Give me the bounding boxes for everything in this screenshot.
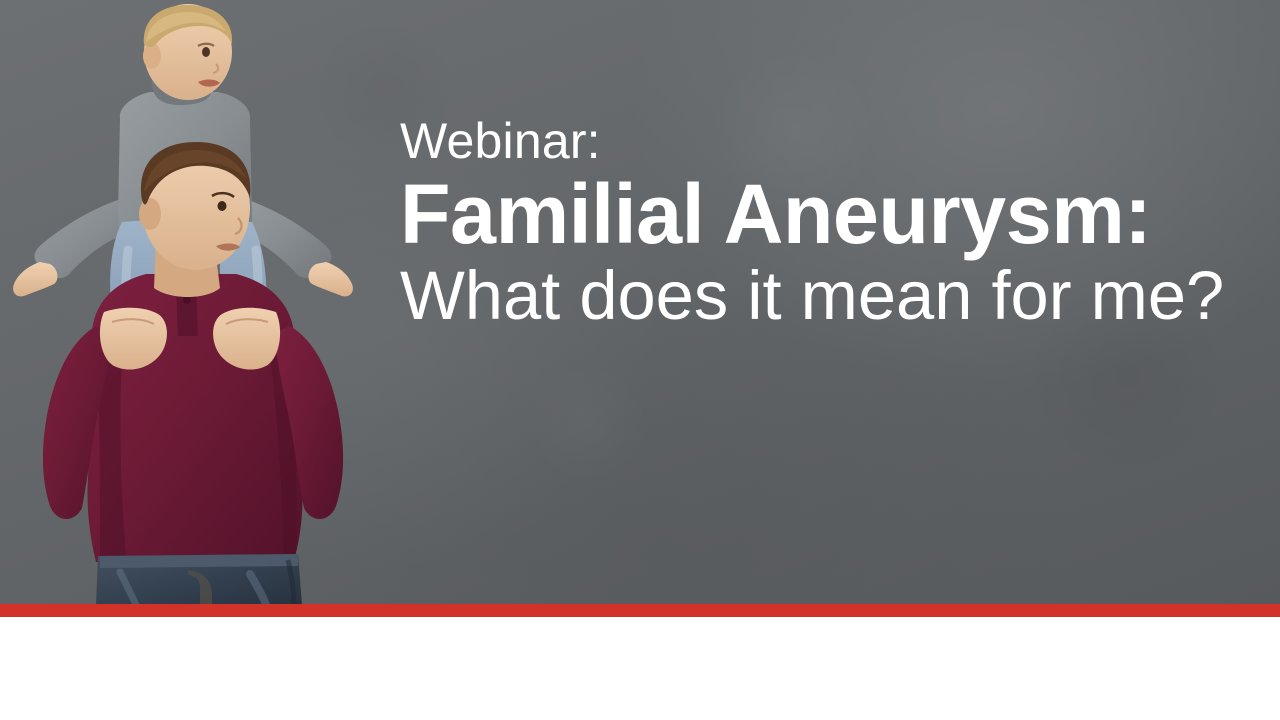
boy-eye (202, 47, 210, 57)
eyebrow-text: Webinar: (400, 112, 1230, 170)
man-shirt-button (183, 296, 191, 304)
title-block: Webinar: Familial Aneurysm: What does it… (400, 112, 1230, 336)
accent-divider (0, 604, 1280, 617)
boy-left-hand (13, 262, 57, 296)
man-jeans-waistband (100, 554, 298, 568)
webinar-title-slide: Webinar: Familial Aneurysm: What does it… (0, 0, 1280, 720)
hero-background: Webinar: Familial Aneurysm: What does it… (0, 0, 1280, 605)
man-eye (218, 201, 227, 211)
sponsor-logo-bar: BRAIN ANEURYSM FOUNDATION (0, 617, 1280, 720)
boy-right-hand (309, 262, 353, 296)
man-ear (139, 198, 161, 230)
hero-photo (0, 0, 380, 605)
boy-ear (143, 43, 161, 69)
subtitle: What does it mean for me? (400, 256, 1226, 336)
page-title: Familial Aneurysm: (400, 168, 1218, 260)
father-and-son-illustration (0, 0, 380, 605)
